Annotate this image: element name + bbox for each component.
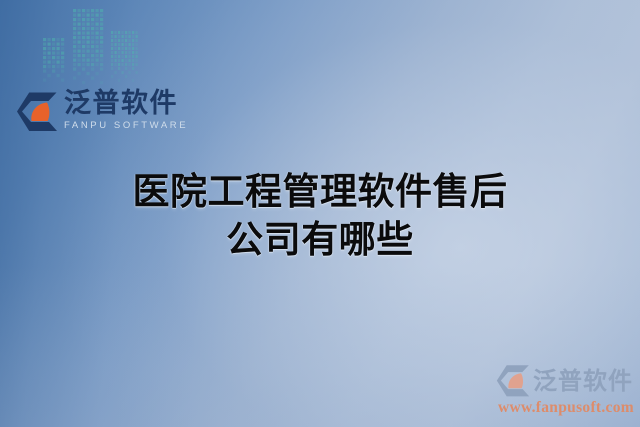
watermark-url: www.fanpusoft.com: [498, 400, 634, 416]
banner-canvas: 泛普软件 FANPU SOFTWARE 医院工程管理软件售后 公司有哪些 泛普软…: [0, 0, 640, 427]
headline-line-2: 公司有哪些: [0, 216, 640, 264]
watermark-name-cn: 泛普软件: [533, 369, 633, 393]
headline-line-1: 医院工程管理软件售后: [0, 168, 640, 216]
watermark: 泛普软件 www.fanpusoft.com: [496, 364, 634, 416]
brand-text-block: 泛普软件 FANPU SOFTWARE: [64, 90, 188, 131]
headline: 医院工程管理软件售后 公司有哪些: [0, 168, 640, 264]
fanpu-hexagon-swoosh-icon: [496, 364, 530, 398]
brand-logo: 泛普软件 FANPU SOFTWARE: [16, 90, 188, 133]
watermark-logo-row: 泛普软件: [496, 364, 633, 398]
fanpu-hexagon-swoosh-icon: [16, 91, 58, 133]
pixel-skyline-decoration: [42, 0, 152, 92]
brand-name-cn: 泛普软件: [64, 90, 188, 117]
brand-name-en: FANPU SOFTWARE: [64, 121, 188, 131]
